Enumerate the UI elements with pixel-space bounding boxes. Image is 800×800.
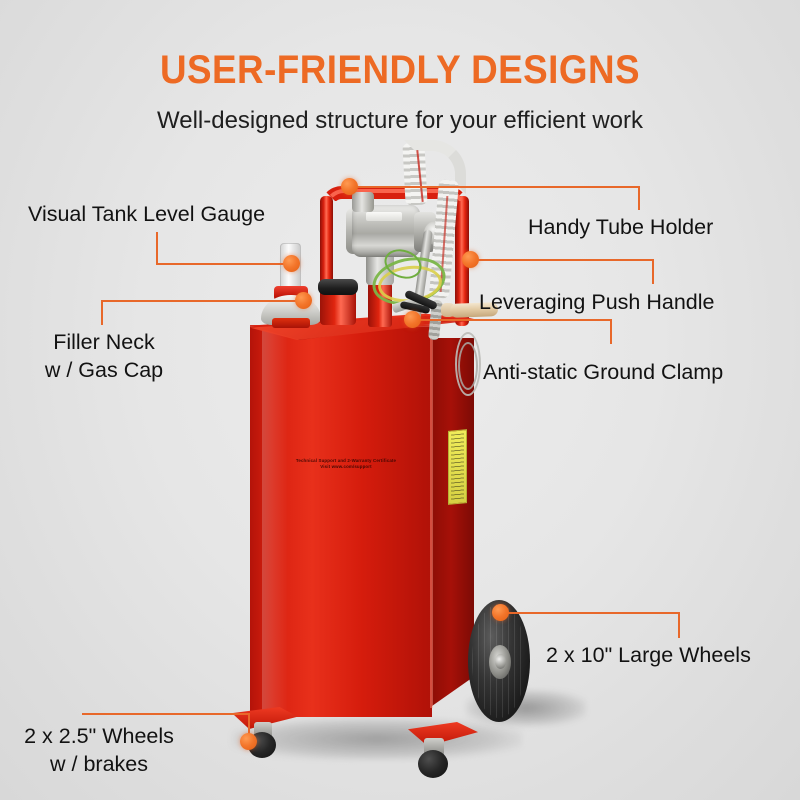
leader-line-ground-clamp-horizontal bbox=[412, 319, 612, 321]
callout-small-wheels-line-2: w / brakes bbox=[4, 750, 194, 778]
leader-line-large-wheels-horizontal bbox=[500, 612, 680, 614]
callout-large-wheels: 2 x 10" Large Wheels bbox=[546, 641, 751, 669]
caster-wheel-right bbox=[418, 750, 448, 778]
warning-sticker-text bbox=[451, 433, 464, 500]
tank-gloss bbox=[262, 330, 288, 710]
callout-filler-line-2: w / Gas Cap bbox=[14, 356, 194, 384]
pump-outlet-fitting bbox=[352, 192, 374, 212]
leader-line-gauge-horizontal bbox=[156, 263, 291, 265]
callout-visual-tank-level-gauge: Visual Tank Level Gauge bbox=[28, 200, 265, 228]
tank-decal-line-2: Visit www.com/support bbox=[292, 464, 400, 470]
leader-line-filler-horizontal bbox=[101, 300, 303, 302]
callout-small-wheels-with-brakes: 2 x 2.5" Wheels w / brakes bbox=[4, 722, 194, 779]
leader-line-small-wheels-horizontal bbox=[82, 713, 250, 715]
leader-line-ground-clamp-vertical bbox=[610, 319, 612, 344]
warning-sticker bbox=[448, 429, 467, 505]
callout-leveraging-push-handle: Leveraging Push Handle bbox=[479, 288, 714, 316]
callout-dot-push-handle bbox=[462, 251, 479, 268]
infographic-canvas: USER-FRIENDLY DESIGNS Well-designed stru… bbox=[0, 0, 800, 800]
large-wheel-axle bbox=[495, 654, 506, 669]
callout-dot-large-wheels bbox=[492, 604, 509, 621]
leader-line-gauge-vertical bbox=[156, 232, 158, 264]
leader-line-filler-vertical bbox=[101, 300, 103, 325]
leader-line-tube-holder-horizontal bbox=[349, 186, 640, 188]
callout-dot-small-wheels bbox=[240, 733, 257, 750]
ground-clamp-cable-inner bbox=[458, 342, 478, 390]
gas-cap-top bbox=[318, 279, 358, 295]
tank-corner-edge bbox=[430, 334, 433, 708]
callout-handy-tube-holder: Handy Tube Holder bbox=[528, 213, 713, 241]
product-image: Technical Support and 2-Warranty Certifi… bbox=[0, 0, 800, 800]
callout-dot-ground-clamp bbox=[404, 311, 421, 328]
leader-line-large-wheels-vertical bbox=[678, 612, 680, 638]
leader-line-tube-holder-vertical bbox=[638, 186, 640, 210]
callout-dot-gauge bbox=[283, 255, 300, 272]
tank-decal: Technical Support and 2-Warranty Certifi… bbox=[292, 458, 400, 471]
callout-dot-filler bbox=[295, 292, 312, 309]
leader-line-push-handle-vertical bbox=[652, 259, 654, 284]
pump-nameplate bbox=[366, 212, 402, 221]
callout-anti-static-ground-clamp: Anti-static Ground Clamp bbox=[483, 358, 723, 386]
callout-filler-line-1: Filler Neck bbox=[14, 328, 194, 356]
leader-line-push-handle-horizontal bbox=[470, 259, 654, 261]
filler-neck-base bbox=[272, 318, 310, 328]
callout-dot-tube-holder bbox=[341, 178, 358, 195]
callout-small-wheels-line-1: 2 x 2.5" Wheels bbox=[4, 722, 194, 750]
callout-filler-neck-gas-cap: Filler Neck w / Gas Cap bbox=[14, 328, 194, 385]
